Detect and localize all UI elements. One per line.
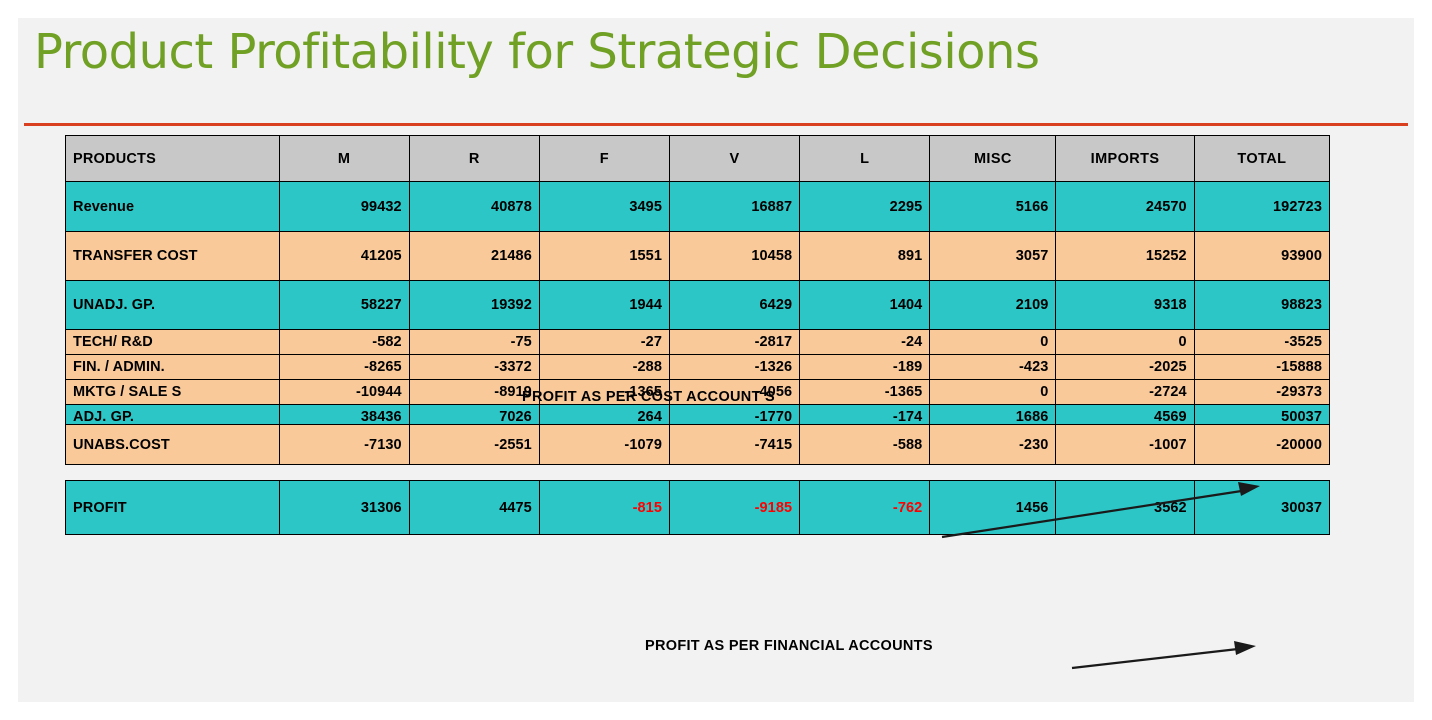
cell-unabs-cost-l: -588 [800,425,930,465]
column-header-f: F [539,136,669,182]
annotation-financial-accounts: PROFIT AS PER FINANCIAL ACCOUNTS [645,638,933,654]
cell-fin-admin-imports: -2025 [1056,355,1194,380]
cell-profit-m: 31306 [279,481,409,535]
cell-transfer-cost-l: 891 [800,232,930,281]
cell-fin-admin-m: -8265 [279,355,409,380]
cell-revenue-misc: 5166 [930,182,1056,232]
row-label-profit: PROFIT [66,481,280,535]
table-row: TRANSFER COST 41205 21486 1551 10458 891… [66,232,1330,281]
cell-unabs-cost-misc: -230 [930,425,1056,465]
annotation-cost-accounts: PROFIT AS PER COST ACCOUNT S [522,389,775,405]
cell-revenue-f: 3495 [539,182,669,232]
table-row: TECH/ R&D -582 -75 -27 -2817 -24 0 0 -35… [66,330,1330,355]
table-row: Revenue 99432 40878 3495 16887 2295 5166… [66,182,1330,232]
profitability-main-table: PRODUCTS M R F V L MISC IMPORTS TOTAL Re… [65,135,1330,430]
cell-profit-r: 4475 [409,481,539,535]
column-header-v: V [670,136,800,182]
cell-profit-f: -815 [539,481,669,535]
cell-mktg-sales-l: -1365 [800,380,930,405]
cell-transfer-cost-imports: 15252 [1056,232,1194,281]
column-header-total: TOTAL [1194,136,1329,182]
page-title: Product Profitability for Strategic Deci… [34,26,1039,79]
column-header-l: L [800,136,930,182]
table-row: FIN. / ADMIN. -8265 -3372 -288 -1326 -18… [66,355,1330,380]
cell-tech-rd-f: -27 [539,330,669,355]
cell-unabs-cost-f: -1079 [539,425,669,465]
row-label-unadj-gp: UNADJ. GP. [66,281,280,330]
cell-unabs-cost-v: -7415 [670,425,800,465]
arrow-to-cost-accounts-total [938,478,1268,548]
cell-unadj-gp-total: 98823 [1194,281,1329,330]
arrow-to-financial-accounts-total [1068,623,1268,673]
cell-fin-admin-total: -15888 [1194,355,1329,380]
row-label-fin-admin: FIN. / ADMIN. [66,355,280,380]
column-header-m: M [279,136,409,182]
cell-unadj-gp-r: 19392 [409,281,539,330]
title-divider-rule [24,123,1408,126]
cell-mktg-sales-imports: -2724 [1056,380,1194,405]
cell-revenue-r: 40878 [409,182,539,232]
cell-tech-rd-l: -24 [800,330,930,355]
cell-tech-rd-imports: 0 [1056,330,1194,355]
cell-profit-v: -9185 [670,481,800,535]
cell-tech-rd-r: -75 [409,330,539,355]
cell-fin-admin-f: -288 [539,355,669,380]
column-header-imports: IMPORTS [1056,136,1194,182]
cell-transfer-cost-v: 10458 [670,232,800,281]
cell-tech-rd-v: -2817 [670,330,800,355]
cell-revenue-imports: 24570 [1056,182,1194,232]
cell-unabs-cost-imports: -1007 [1056,425,1194,465]
cell-unadj-gp-m: 58227 [279,281,409,330]
cell-transfer-cost-total: 93900 [1194,232,1329,281]
cell-mktg-sales-r: -8919 [409,380,539,405]
cell-tech-rd-misc: 0 [930,330,1056,355]
table-row: UNADJ. GP. 58227 19392 1944 6429 1404 21… [66,281,1330,330]
cell-mktg-sales-misc: 0 [930,380,1056,405]
row-label-unabs-cost: UNABS.COST [66,425,280,465]
row-label-tech-rd: TECH/ R&D [66,330,280,355]
cell-unadj-gp-imports: 9318 [1056,281,1194,330]
cell-unadj-gp-misc: 2109 [930,281,1056,330]
cell-revenue-total: 192723 [1194,182,1329,232]
cell-tech-rd-total: -3525 [1194,330,1329,355]
cell-transfer-cost-f: 1551 [539,232,669,281]
table-header-row: PRODUCTS M R F V L MISC IMPORTS TOTAL [66,136,1330,182]
cell-revenue-m: 99432 [279,182,409,232]
unabsorbed-cost-table: UNABS.COST -7130 -2551 -1079 -7415 -588 … [65,424,1330,465]
cell-revenue-l: 2295 [800,182,930,232]
row-label-revenue: Revenue [66,182,280,232]
cell-fin-admin-l: -189 [800,355,930,380]
cell-unadj-gp-v: 6429 [670,281,800,330]
cell-fin-admin-r: -3372 [409,355,539,380]
cell-profit-l: -762 [800,481,930,535]
cell-mktg-sales-total: -29373 [1194,380,1329,405]
row-label-mktg-sales: MKTG / SALE S [66,380,280,405]
cell-unabs-cost-m: -7130 [279,425,409,465]
cell-unadj-gp-f: 1944 [539,281,669,330]
cell-fin-admin-misc: -423 [930,355,1056,380]
cell-revenue-v: 16887 [670,182,800,232]
column-header-products: PRODUCTS [66,136,280,182]
cell-mktg-sales-m: -10944 [279,380,409,405]
column-header-misc: MISC [930,136,1056,182]
cell-transfer-cost-misc: 3057 [930,232,1056,281]
cell-fin-admin-v: -1326 [670,355,800,380]
cell-unadj-gp-l: 1404 [800,281,930,330]
cell-transfer-cost-m: 41205 [279,232,409,281]
slide-canvas: Product Profitability for Strategic Deci… [18,18,1414,702]
cell-unabs-cost-total: -20000 [1194,425,1329,465]
row-label-transfer-cost: TRANSFER COST [66,232,280,281]
cell-tech-rd-m: -582 [279,330,409,355]
table-row: UNABS.COST -7130 -2551 -1079 -7415 -588 … [66,425,1330,465]
column-header-r: R [409,136,539,182]
cell-transfer-cost-r: 21486 [409,232,539,281]
cell-unabs-cost-r: -2551 [409,425,539,465]
